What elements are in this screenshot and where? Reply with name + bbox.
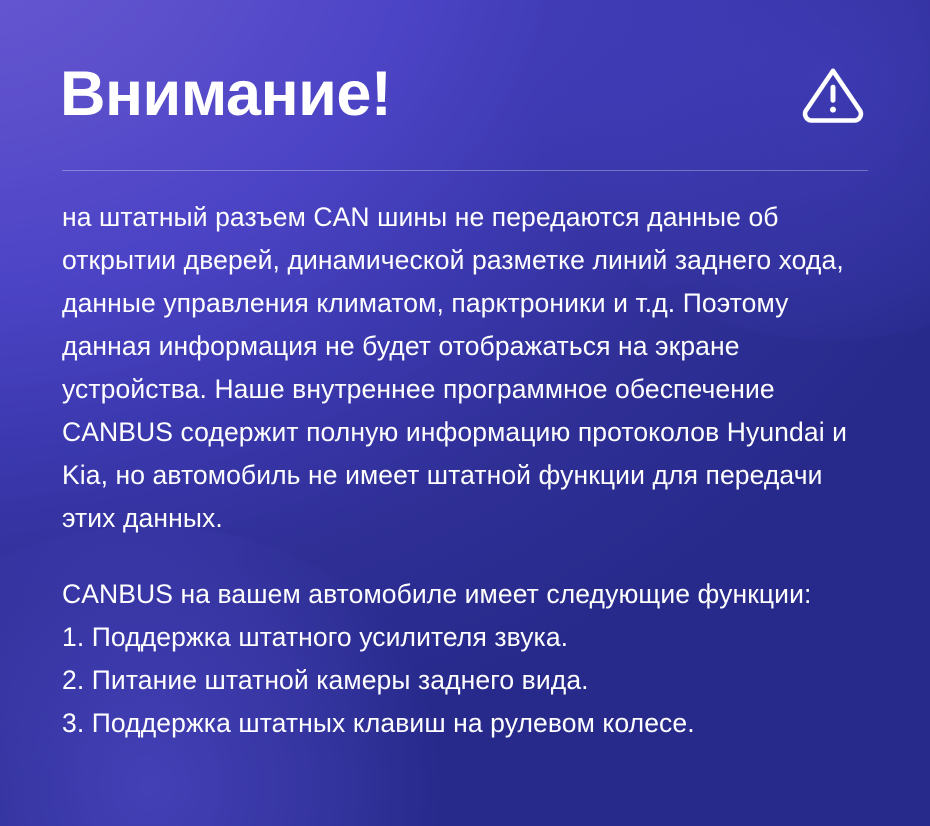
page-title: Внимание! <box>60 63 391 126</box>
warning-poster: Внимание! на штатный разъем CAN шины не … <box>0 0 930 826</box>
warning-triangle-icon <box>800 62 866 128</box>
poster-header: Внимание! <box>60 46 870 142</box>
function-list: CANBUS на вашем автомобиле имеет следующ… <box>62 573 874 745</box>
function-list-intro: CANBUS на вашем автомобиле имеет следующ… <box>62 573 874 616</box>
notice-body: на штатный разъем CAN шины не передаются… <box>62 196 874 745</box>
notice-paragraph: на штатный разъем CAN шины не передаются… <box>62 196 874 540</box>
header-divider <box>62 170 868 171</box>
list-item: 3. Поддержка штатных клавиш на рулевом к… <box>62 702 874 745</box>
list-item: 1. Поддержка штатного усилителя звука. <box>62 616 874 659</box>
list-item: 2. Питание штатной камеры заднего вида. <box>62 659 874 702</box>
